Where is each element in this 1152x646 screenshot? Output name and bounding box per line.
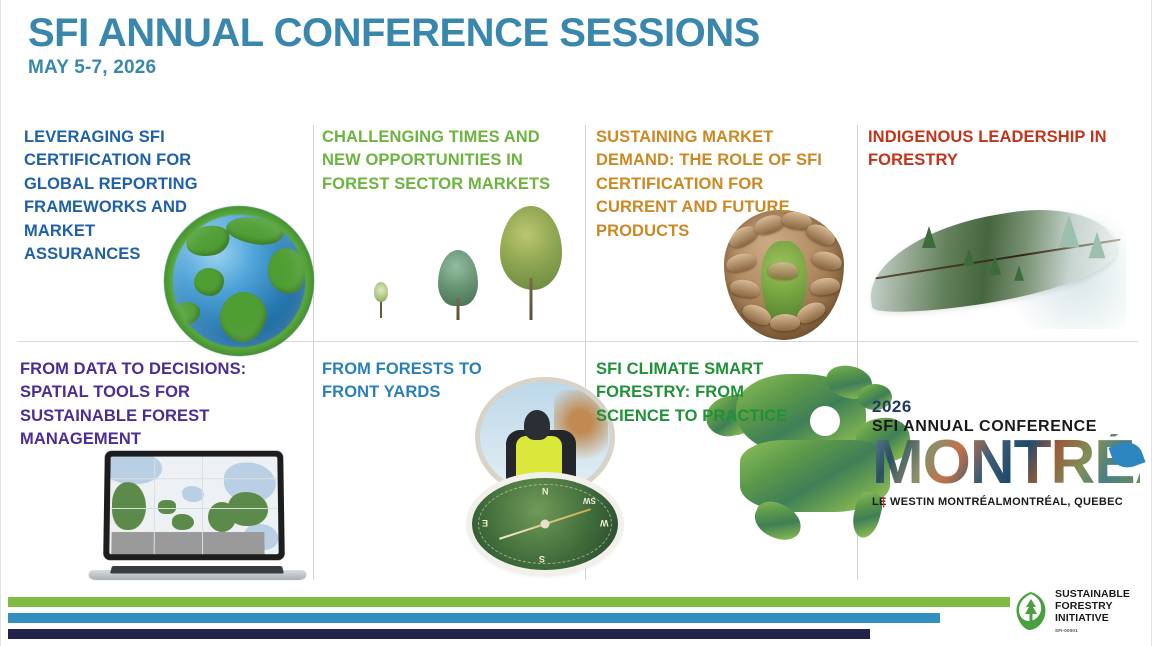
sessions-grid: LEVERAGING SFI CERTIFICATION FOR GLOBAL … [0,110,1152,582]
sfi-logo[interactable]: SUSTAINABLE FORESTRY INITIATIVE SFI-0000… [1014,584,1134,638]
session-card-from-data-to-decisions[interactable]: FROM DATA TO DECISIONS: SPATIAL TOOLS FO… [20,358,310,573]
logo-year: 2026 [872,398,1140,415]
laptop-map-image [90,450,305,590]
session-title: FROM DATA TO DECISIONS: SPATIAL TOOLS FO… [20,358,270,452]
compass-mark-n: N [542,486,549,496]
grid-divider-vertical-3 [857,125,858,580]
session-title: SUSTAINING MARKET DEMAND: THE ROLE OF SF… [596,126,848,243]
session-card-from-forests-to-front-yards[interactable]: FROM FORESTS TO FRONT YARDS N [322,358,578,573]
session-title: FROM FORESTS TO FRONT YARDS [322,358,542,405]
logo-separator: | [882,496,885,506]
montreal-conference-logo[interactable]: 2026 SFI ANNUAL CONFERENCE MONTRÉAL LE W… [872,398,1140,508]
session-card-climate-smart-forestry[interactable]: SFI CLIMATE SMART FORESTRY: FROM SCIENCE… [596,358,852,573]
grid-divider-vertical-2 [585,125,586,580]
session-card-leveraging-sfi-certification[interactable]: LEVERAGING SFI CERTIFICATION FOR GLOBAL … [24,126,310,341]
session-card-sustaining-market-demand[interactable]: SUSTAINING MARKET DEMAND: THE ROLE OF SF… [596,126,852,341]
logo-venue: LE WESTIN MONTRÉAL [872,496,1003,508]
compass-mark-e: E [482,518,488,528]
sfi-logo-text-block: SUSTAINABLE FORESTRY INITIATIVE SFI-0000… [1055,589,1130,632]
conference-dates: MAY 5-7, 2026 [28,58,1028,79]
session-title: LEVERAGING SFI CERTIFICATION FOR GLOBAL … [24,126,200,267]
conference-sessions-slide: SFI ANNUAL CONFERENCE SESSIONS MAY 5-7, … [0,0,1152,646]
compass-mark-s: S [539,554,545,564]
session-title: INDIGENOUS LEADERSHIP IN FORESTRY [868,126,1126,173]
seedlings-in-soil-image [322,214,578,342]
grid-divider-vertical-1 [313,125,314,580]
session-card-indigenous-leadership[interactable]: INDIGENOUS LEADERSHIP IN FORESTRY [868,126,1130,341]
footer-green-bar [8,597,1010,607]
session-title: CHALLENGING TIMES AND NEW OPPORTUNITIES … [322,126,572,196]
logo-city-name: MONTRÉAL [872,434,1140,493]
logo-location: MONTRÉAL, QUEBEC [1003,496,1123,508]
logo-venue-line: LE WESTIN MONTRÉAL|MONTRÉAL, QUEBEC [872,496,1140,508]
sfi-line-3: INITIATIVE [1055,613,1130,625]
sfi-leaf-tree-icon [1014,590,1048,632]
sfi-certification-code: SFI-00001 [1055,628,1130,633]
session-card-challenging-times[interactable]: CHALLENGING TIMES AND NEW OPPORTUNITIES … [322,126,578,341]
slide-header: SFI ANNUAL CONFERENCE SESSIONS MAY 5-7, … [28,12,1028,79]
footer-blue-bar [8,613,940,623]
grid-divider-horizontal [18,341,1138,342]
feather-forest-image [866,204,1126,329]
footer-navy-bar [8,629,870,639]
page-title: SFI ANNUAL CONFERENCE SESSIONS [28,12,1028,54]
session-title: SFI CLIMATE SMART FORESTRY: FROM SCIENCE… [596,358,792,428]
